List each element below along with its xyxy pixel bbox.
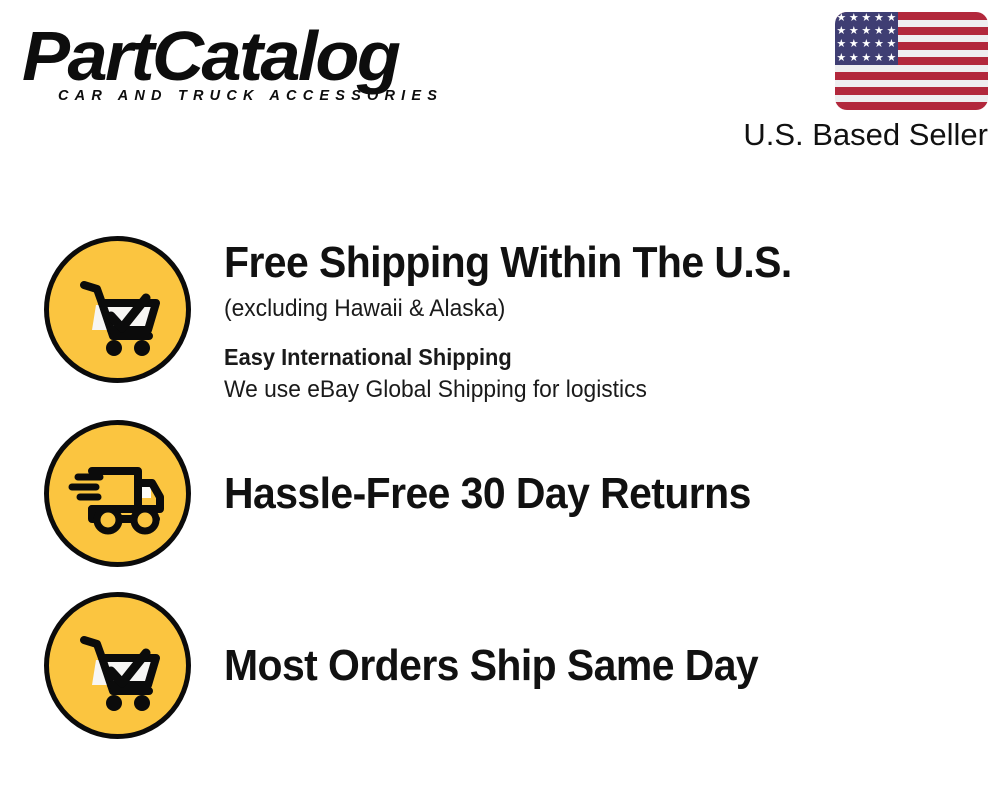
shopping-cart-check-icon bbox=[44, 592, 191, 739]
feature-subnote: (excluding Hawaii & Alaska) bbox=[224, 293, 804, 325]
seller-badge-label: U.S. Based Seller bbox=[713, 117, 988, 153]
seller-badge: ★★★★★ ★★★★★ ★★★★★ ★★★★★ U.S. Based Selle… bbox=[713, 12, 988, 153]
shopping-cart-check-icon bbox=[44, 236, 191, 383]
feature-headline: Most Orders Ship Same Day bbox=[224, 641, 758, 691]
feature-headline: Free Shipping Within The U.S. bbox=[224, 238, 792, 288]
delivery-truck-icon bbox=[44, 420, 191, 567]
us-flag-icon: ★★★★★ ★★★★★ ★★★★★ ★★★★★ bbox=[835, 12, 988, 110]
feature-row: Most Orders Ship Same Day bbox=[0, 590, 1000, 740]
feature-text: Most Orders Ship Same Day bbox=[224, 639, 798, 691]
feature-text: Free Shipping Within The U.S. (excluding… bbox=[224, 236, 834, 406]
feature-sub-bold: Easy International Shipping bbox=[224, 341, 804, 373]
flag-canton: ★★★★★ ★★★★★ ★★★★★ ★★★★★ bbox=[835, 12, 898, 65]
brand-logo: PartCatalog CAR AND TRUCK ACCESSORIES bbox=[22, 20, 492, 115]
feature-text: Hassle-Free 30 Day Returns bbox=[224, 467, 790, 519]
feature-row: Free Shipping Within The U.S. (excluding… bbox=[0, 236, 1000, 406]
brand-wordmark: PartCatalog bbox=[22, 20, 506, 92]
feature-row: Hassle-Free 30 Day Returns bbox=[0, 418, 1000, 568]
feature-headline: Hassle-Free 30 Day Returns bbox=[224, 469, 751, 519]
feature-sub-plain: We use eBay Global Shipping for logistic… bbox=[224, 374, 804, 406]
